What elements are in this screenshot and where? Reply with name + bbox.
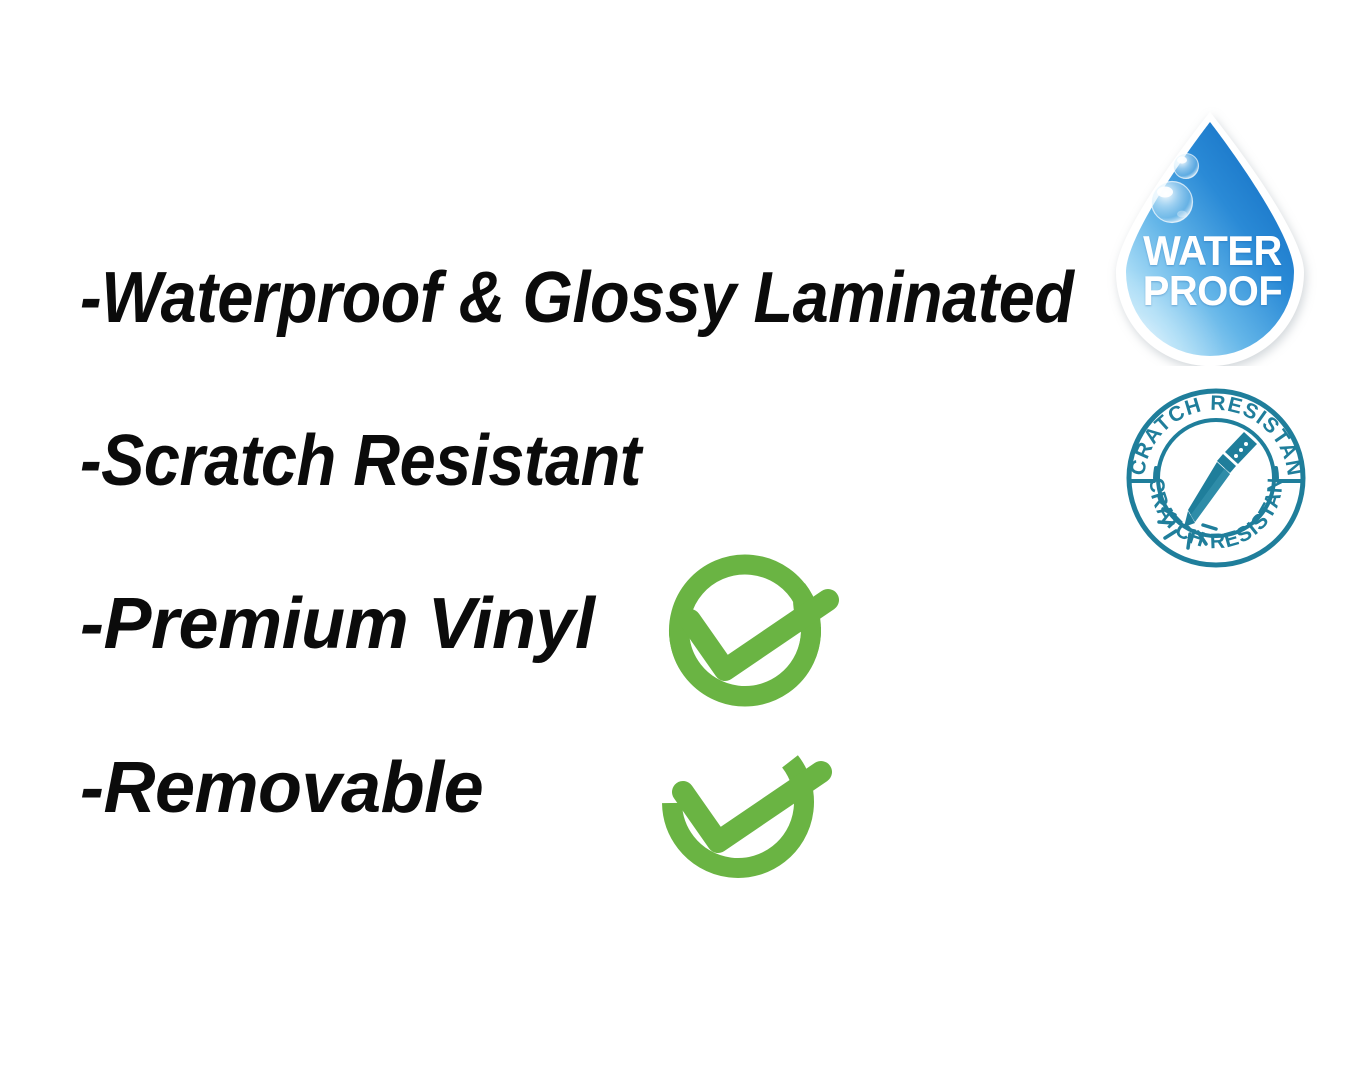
feature-item-waterproof-glossy-laminated: -Waterproof & Glossy Laminated [80,262,1073,334]
knife-icon [1184,432,1257,527]
bubble-icon [1152,182,1193,223]
waterproof-droplet-badge: WATER PROOF [1098,104,1323,366]
scratch-resistant-stamp-badge: SCRATCH RESISTANT SCRATCH RESISTANT [1118,382,1314,568]
bubble-icon [1174,154,1199,179]
green-check-circle-icon [622,715,832,885]
stamp-arc-text-top: SCRATCH RESISTANT [1118,382,1306,478]
feature-item-removable: -Removable [80,752,483,824]
green-check-circle-icon [632,552,842,712]
feature-list: -Waterproof & Glossy Laminated -Scratch … [0,0,1100,1080]
feature-item-scratch-resistant: -Scratch Resistant [80,425,641,497]
feature-callout-graphic: -Waterproof & Glossy Laminated -Scratch … [0,0,1359,1080]
feature-item-premium-vinyl: -Premium Vinyl [80,588,594,660]
